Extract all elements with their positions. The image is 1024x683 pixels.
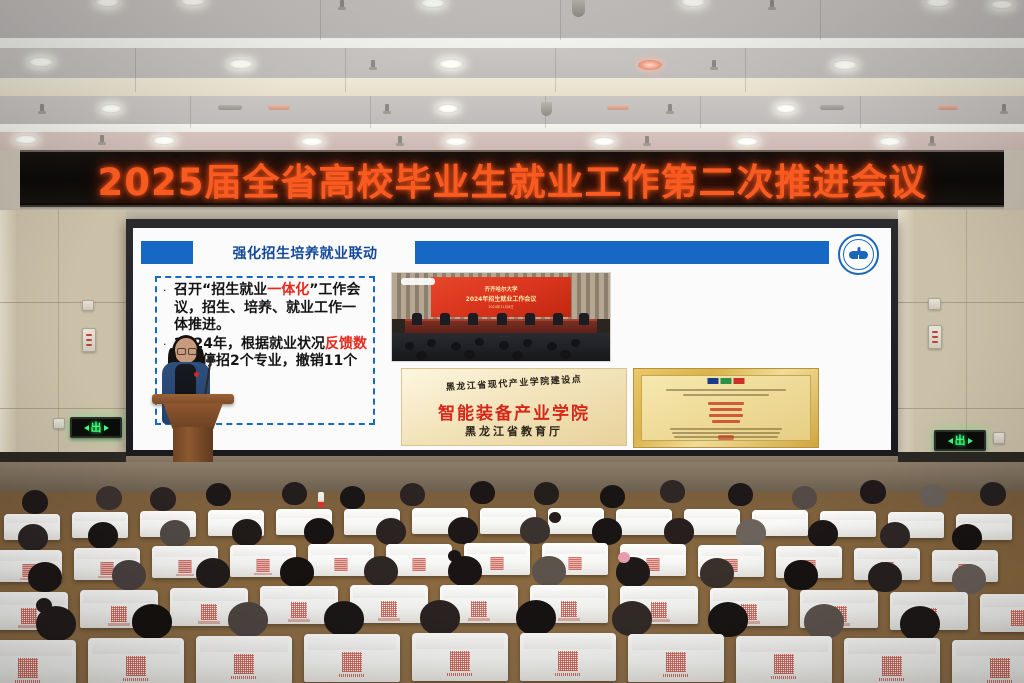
sprinkler-head (340, 0, 344, 9)
ceiling-vent (268, 105, 290, 110)
attendee-head (534, 482, 559, 505)
sprinkler-head (645, 136, 649, 145)
ceiling-downlight (735, 137, 759, 146)
sprinkler-head (371, 60, 375, 69)
ceiling-downlight (14, 135, 38, 144)
ceiling-downlight (300, 137, 324, 146)
seat (88, 638, 184, 683)
sprinkler-head (668, 104, 672, 113)
bullet-text: 召开“招生就业一体化”工作会议，招生、培养、就业工作一体推进。 (174, 282, 369, 335)
ceiling-downlight (878, 137, 902, 146)
ceiling-vent (938, 105, 958, 110)
seat (0, 640, 76, 683)
led-banner: 2025届全省高校毕业生就业工作第二次推进会议 (20, 150, 1004, 207)
attendee-head (400, 483, 425, 506)
attendee-head (22, 490, 48, 514)
ceiling-vent (820, 105, 844, 110)
banner-line-2: 2024年招生就业工作会议 (466, 294, 537, 303)
attendee-head (920, 484, 946, 508)
wall-control-panel[interactable] (928, 325, 942, 349)
attendee-head (112, 560, 146, 590)
attendee-head (18, 524, 48, 551)
seat (980, 594, 1024, 632)
plaque-main-text: 智能装备产业学院 (402, 399, 626, 424)
wall-switch[interactable] (993, 432, 1005, 444)
ceiling-downlight (100, 104, 122, 113)
conference-hall-photo: 2025届全省高校毕业生就业工作第二次推进会议 出 出 (0, 0, 1024, 683)
attendee-head (660, 480, 685, 503)
banner-line-1: 齐齐哈尔大学 (484, 285, 517, 293)
attendee-head (612, 601, 652, 636)
attendee-head (420, 600, 460, 635)
wall-switch[interactable] (53, 418, 65, 429)
ceiling-downlight (152, 136, 176, 145)
exit-sign-glyph: 出 (91, 422, 102, 433)
arrow-left-icon (948, 438, 953, 444)
ceiling-downlight (592, 137, 616, 146)
gold-certificate (633, 368, 819, 448)
attendee-head (228, 602, 268, 637)
attendee-head (150, 487, 176, 511)
wooden-podium (158, 394, 228, 472)
presenter-badge (194, 372, 199, 377)
attendee-head (132, 604, 172, 639)
attendee-head (364, 556, 398, 586)
ceiling-speaker (572, 0, 585, 17)
arrow-left-icon (84, 425, 89, 431)
sprinkler-head (385, 104, 389, 113)
university-seal-icon (838, 234, 879, 275)
attendee-head (952, 564, 986, 594)
attendee-head (340, 486, 365, 509)
attendee-head (532, 556, 566, 586)
title-accent-bar-right (415, 241, 829, 264)
seat (196, 636, 292, 683)
sprinkler-head (100, 135, 104, 144)
seat (304, 634, 400, 682)
slide-title-row: 强化招生培养就业联动 (133, 241, 891, 264)
attendee-head (952, 524, 982, 551)
attendee-head (160, 520, 190, 547)
industry-college-plaque: 黑龙江省现代产业学院建设点 智能装备产业学院 黑龙江省教育厅 (401, 368, 627, 446)
ceiling-downlight (832, 60, 858, 70)
attendee-head (664, 518, 694, 545)
attendee-head (900, 606, 940, 641)
attendee-head (196, 558, 230, 588)
attendee-hair-bun (36, 598, 52, 613)
right-wall: 出 (898, 210, 1024, 490)
attendee-head (708, 602, 748, 637)
ceiling-vent (607, 105, 629, 110)
attendee-head (880, 522, 910, 549)
attendee-head (700, 558, 734, 588)
attendee-head (516, 600, 556, 635)
attendee-head (860, 480, 886, 504)
exit-sign-icon: 出 (934, 430, 986, 451)
arrow-right-icon (104, 425, 109, 431)
attendee-head (804, 604, 844, 639)
attendee-head (728, 483, 753, 506)
plaque-issuer: 黑龙江省教育厅 (402, 423, 626, 439)
sprinkler-head (770, 0, 774, 9)
attendee-head (28, 562, 62, 592)
bullet-marker: · (163, 282, 170, 335)
seat (952, 640, 1024, 683)
sprinkler-head (1002, 104, 1006, 113)
ceiling-vent (218, 105, 242, 110)
wall-switch[interactable] (928, 298, 941, 310)
seat (412, 633, 508, 681)
arrow-right-icon (968, 438, 973, 444)
sprinkler-head (398, 136, 402, 145)
attendee-head (280, 557, 314, 587)
ceiling-downlight (990, 0, 1014, 9)
slide-content: 强化招生培养就业联动 · 召开“招生就业一体化”工作会议，招生、培养、就业工作一… (133, 228, 891, 450)
attendee-head (282, 482, 307, 505)
attendee-head (96, 486, 122, 510)
attendee-head (520, 517, 550, 544)
attendee-head (592, 518, 622, 545)
ceiling-downlight (438, 59, 464, 69)
wall-switch[interactable] (82, 300, 94, 311)
exit-sign-glyph: 出 (955, 435, 966, 446)
presenter-glasses (177, 348, 196, 353)
ceiling-downlight (775, 104, 797, 113)
attendee-head (470, 481, 495, 504)
seat (736, 636, 832, 683)
projection-screen: 强化招生培养就业联动 · 召开“招生就业一体化”工作会议，招生、培养、就业工作一… (126, 219, 898, 456)
left-wall: 出 (0, 210, 126, 490)
ceiling-downlight (444, 137, 468, 146)
ceiling-downlight (437, 104, 459, 113)
led-banner-text: 2025届全省高校毕业生就业工作第二次推进会议 (98, 152, 927, 206)
conference-photo-banner: 齐齐哈尔大学 2024年招生就业工作会议 2024年11月8日 (431, 277, 571, 317)
list-item: · 召开“招生就业一体化”工作会议，招生、培养、就业工作一体推进。 (163, 282, 369, 335)
attendee-hair-bun (549, 512, 561, 523)
led-banner-shadow (20, 203, 1004, 210)
attendee-head (88, 522, 118, 549)
attendee-head (206, 483, 231, 506)
sprinkler-head (40, 104, 44, 113)
ceiling-downlight (28, 57, 54, 67)
attendee-head (448, 517, 478, 544)
title-accent-bar-left (141, 241, 193, 264)
attendee-head (784, 560, 818, 590)
attendee-head (304, 518, 334, 545)
attendee-head (736, 519, 766, 546)
water-bottle (318, 492, 324, 508)
banner-line-3: 2024年11月8日 (488, 304, 513, 309)
attendee-head (868, 562, 902, 592)
attendee-head (324, 601, 364, 636)
ceiling (0, 0, 1024, 150)
attendee-head (808, 520, 838, 547)
sprinkler-head (930, 136, 934, 145)
audience-seating (0, 462, 1024, 683)
seat (520, 633, 616, 681)
seat (844, 638, 940, 683)
attendee-head (600, 485, 625, 508)
ceiling-downlight (228, 59, 254, 69)
attendee-head (376, 518, 406, 545)
ceiling-downlight-red (638, 60, 662, 70)
sprinkler-head (712, 60, 716, 69)
slide-title: 强化招生培养就业联动 (197, 241, 413, 264)
attendee-head (792, 486, 817, 509)
conference-photo: 齐齐哈尔大学 2024年招生就业工作会议 2024年11月8日 (391, 272, 611, 362)
attendee-hair-bun (618, 552, 630, 563)
seat (628, 634, 724, 682)
attendee-hair-bun (448, 550, 461, 562)
attendee-head (980, 482, 1006, 506)
attendee-head (232, 519, 262, 546)
highlight-text: 一体化 (267, 282, 309, 298)
plaque-arc-text: 黑龙江省现代产业学院建设点 (402, 369, 626, 396)
ceiling-speaker (541, 102, 552, 116)
wall-control-panel[interactable] (82, 328, 96, 352)
exit-sign-icon: 出 (70, 417, 122, 438)
